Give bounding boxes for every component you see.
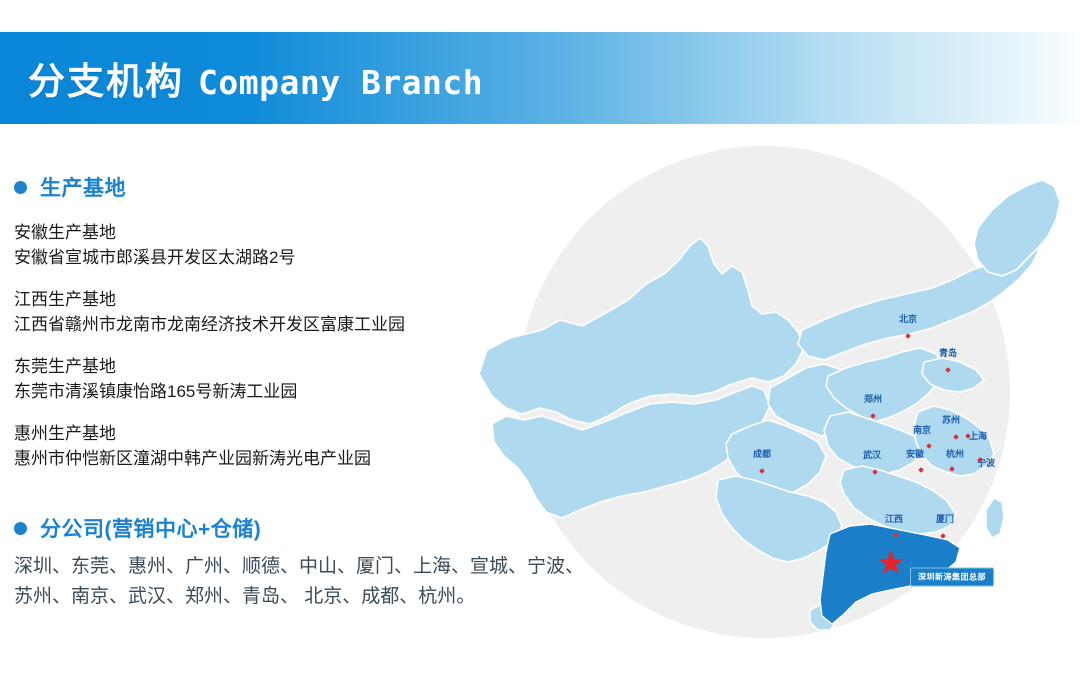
page-title-cn: 分支机构: [28, 51, 184, 105]
branch-page: 分支机构 Company Branch 生产基地 安徽生产基地 安徽省宣城市郎溪…: [0, 0, 1080, 686]
headquarters-star-icon: ★: [876, 546, 906, 580]
city-label-jiangxi: 江西: [885, 514, 903, 524]
city-label-shanghai: 上海: [969, 431, 987, 441]
province-northeast: [974, 180, 1060, 276]
city-label-nanjing: 南京: [913, 425, 931, 435]
city-label-xiamen: 厦门: [936, 514, 954, 524]
city-label-qingdao: 青岛: [939, 348, 957, 358]
province-central: [824, 412, 922, 474]
city-label-anhui: 安徽: [906, 449, 924, 459]
page-title-en: Company Branch: [198, 63, 483, 102]
china-map: 北京 青岛 郑州 成都 武汉 南京 苏州 上海 安徽 杭州 宁波 江西 厦门 ★…: [432, 124, 1080, 686]
branch-section-title: 分公司(营销中心+仓储): [40, 513, 261, 543]
production-section-title: 生产基地: [40, 172, 126, 202]
city-label-beijing: 北京: [899, 314, 917, 324]
bullet-dot-icon: [14, 181, 27, 194]
city-label-zhengzhou: 郑州: [864, 394, 882, 404]
bullet-dot-icon: [14, 522, 27, 535]
city-label-chengdu: 成都: [753, 449, 771, 459]
headquarters-label: 深圳新涛集团总部: [910, 568, 994, 587]
china-map-svg: [432, 124, 1080, 686]
city-label-wuhan: 武汉: [863, 450, 881, 460]
province-taiwan: [986, 498, 1004, 538]
city-label-hangzhou: 杭州: [946, 449, 964, 459]
province-southwest: [716, 476, 842, 562]
header-banner: 分支机构 Company Branch: [0, 32, 1080, 124]
header-title-group: 分支机构 Company Branch: [0, 51, 483, 105]
city-label-suzhou: 苏州: [942, 415, 960, 425]
